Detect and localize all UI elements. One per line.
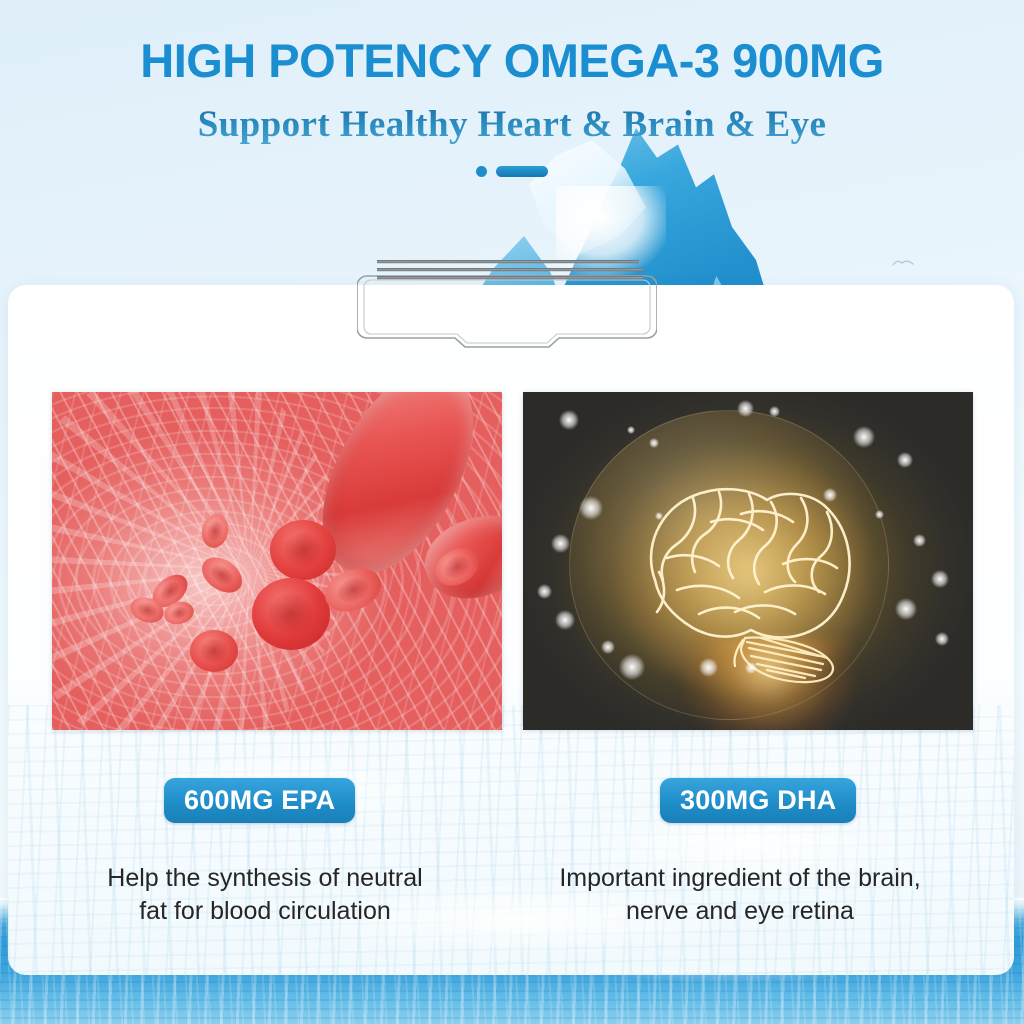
divider-dot xyxy=(476,166,487,177)
blood-vessel-red-blood-cells-photo xyxy=(52,392,502,730)
badge-dha: 300MG DHA xyxy=(660,778,856,823)
bokeh-dot xyxy=(853,426,875,448)
caption-dha-line1: Important ingredient of the brain, xyxy=(559,864,920,892)
bokeh-dot xyxy=(601,640,615,654)
caption-epa: Help the synthesis of neutral fat for bl… xyxy=(55,862,475,928)
bokeh-dot xyxy=(559,410,579,430)
bokeh-dot xyxy=(655,512,663,520)
bokeh-dot xyxy=(769,406,780,417)
bokeh-dot xyxy=(627,426,635,434)
page-subtitle: Support Healthy Heart & Brain & Eye xyxy=(0,103,1024,146)
bokeh-dot xyxy=(897,452,913,468)
glowing-brain-photo xyxy=(523,392,973,730)
brain-outline-icon xyxy=(615,452,885,692)
seagull-icon xyxy=(892,258,914,267)
bokeh-dot xyxy=(931,570,949,588)
red-blood-cell xyxy=(252,578,330,650)
bokeh-dot xyxy=(537,584,552,599)
bokeh-dot xyxy=(699,658,718,677)
caption-dha-line2: nerve and eye retina xyxy=(530,895,950,928)
bokeh-dot xyxy=(551,534,570,553)
caption-epa-line2: fat for blood circulation xyxy=(55,895,475,928)
caption-epa-line1: Help the synthesis of neutral xyxy=(107,864,422,892)
bokeh-dot xyxy=(737,400,754,417)
bokeh-dot xyxy=(649,438,659,448)
bokeh-dot xyxy=(875,510,884,519)
bokeh-dot xyxy=(913,534,926,547)
dot-and-bar-divider-icon xyxy=(0,163,1024,179)
bokeh-dot xyxy=(895,598,917,620)
bokeh-dot xyxy=(823,488,837,502)
clipboard-clip-icon xyxy=(357,248,657,348)
page-title: HIGH POTENCY OMEGA-3 900MG xyxy=(0,33,1024,88)
caption-dha: Important ingredient of the brain, nerve… xyxy=(530,862,950,928)
bokeh-dot xyxy=(579,496,603,520)
bokeh-dot xyxy=(935,632,949,646)
red-blood-cell xyxy=(190,630,238,672)
bokeh-dot xyxy=(555,610,575,630)
red-blood-cell xyxy=(270,520,336,580)
divider-bar xyxy=(496,166,548,177)
badge-epa: 600MG EPA xyxy=(164,778,355,823)
bokeh-dot xyxy=(619,654,645,680)
bokeh-dot xyxy=(745,662,757,674)
